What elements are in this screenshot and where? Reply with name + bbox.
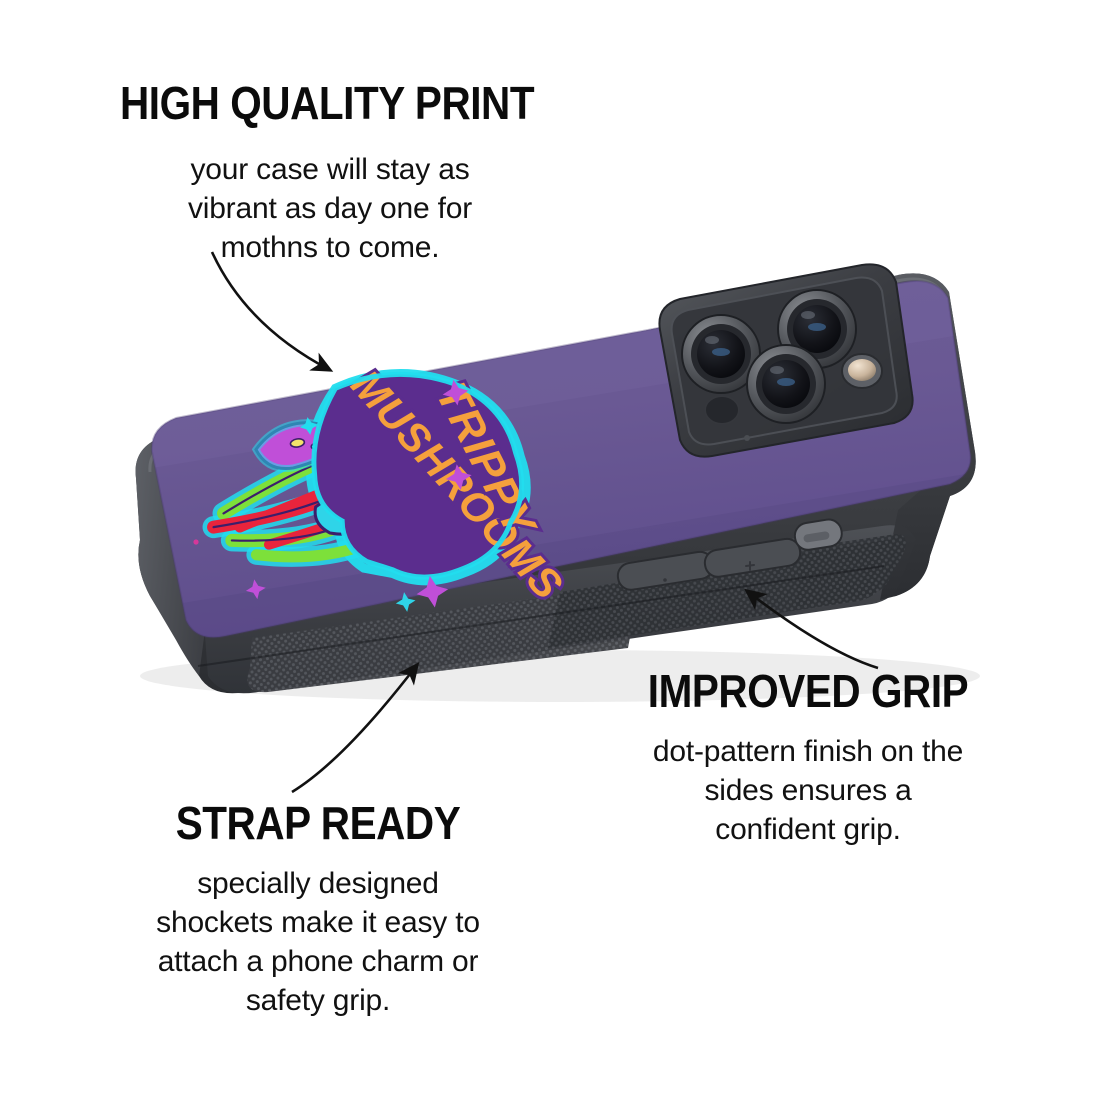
microphone-hole bbox=[744, 435, 750, 441]
feature-heading-grip: IMPROVED GRIP bbox=[632, 668, 984, 714]
artwork-speck bbox=[193, 539, 198, 544]
feature-body-line: specially designed bbox=[108, 864, 528, 903]
feature-body-line: shockets make it easy to bbox=[108, 903, 528, 942]
feature-high-quality-print: HIGH QUALITY PRINT your case will stay a… bbox=[120, 80, 591, 267]
feature-body-line: attach a phone charm or bbox=[108, 942, 528, 981]
feature-body-line: sides ensures a bbox=[608, 771, 1008, 810]
infographic-canvas: MUSHROOMS TRIPPY bbox=[0, 0, 1100, 1100]
feature-body-line: dot-pattern finish on the bbox=[608, 732, 1008, 771]
feature-body-strap: specially designed shockets make it easy… bbox=[108, 864, 528, 1020]
feature-heading-strap: STRAP READY bbox=[133, 800, 503, 846]
feature-body-line: confident grip. bbox=[608, 810, 1008, 849]
feature-improved-grip: IMPROVED GRIP dot-pattern finish on the … bbox=[608, 668, 1008, 849]
lidar-sensor bbox=[705, 396, 739, 424]
feature-body-line: your case will stay as bbox=[120, 150, 540, 189]
camera-flash bbox=[842, 354, 882, 388]
camera-lens-3 bbox=[747, 345, 825, 423]
feature-strap-ready: STRAP READY specially designed shockets … bbox=[108, 800, 528, 1020]
feature-body-line: vibrant as day one for bbox=[120, 189, 540, 228]
feature-body-line: mothns to come. bbox=[120, 228, 540, 267]
feature-heading-print: HIGH QUALITY PRINT bbox=[120, 80, 534, 126]
feature-body-print: your case will stay as vibrant as day on… bbox=[120, 150, 540, 267]
feature-body-line: safety grip. bbox=[108, 981, 528, 1020]
feature-body-grip: dot-pattern finish on the sides ensures … bbox=[608, 732, 1008, 849]
